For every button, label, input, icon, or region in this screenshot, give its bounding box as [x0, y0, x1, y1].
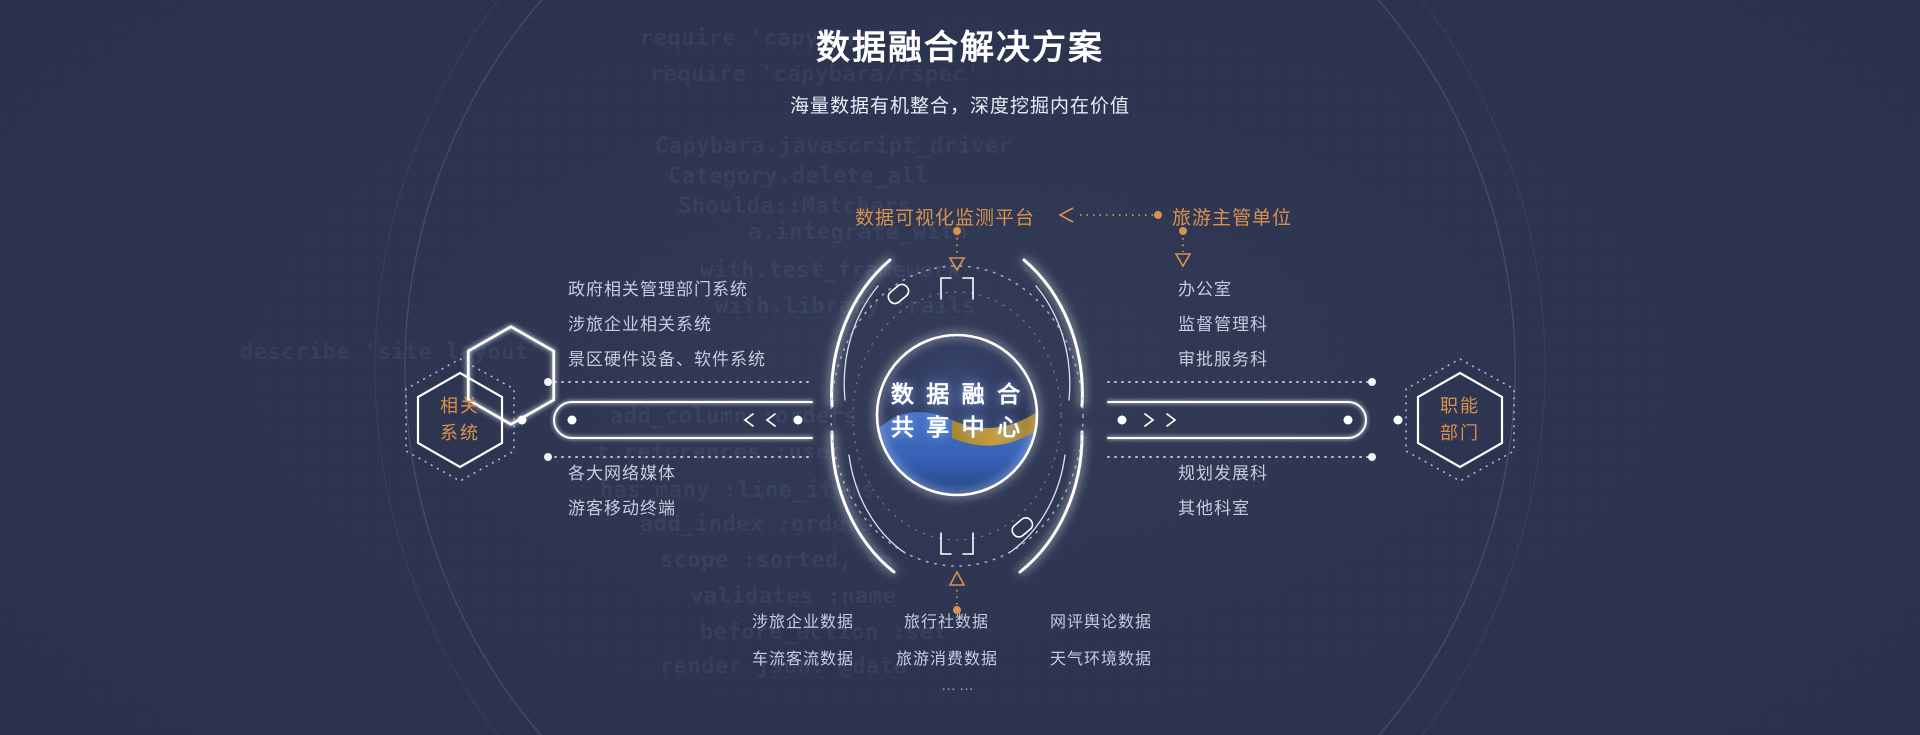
ring-capsule-marker-top	[886, 282, 911, 306]
right-node-line1: 职能	[1440, 393, 1480, 420]
left-system-item-0[interactable]: 政府相关管理部门系统	[568, 275, 748, 300]
right-dept-item-0[interactable]: 办公室	[1178, 275, 1232, 300]
top-label-visualization-platform[interactable]: 数据可视化监测平台	[855, 203, 1035, 230]
right-dept-item-2[interactable]: 审批服务科	[1178, 345, 1268, 370]
top-label-tourism-authority[interactable]: 旅游主管单位	[1172, 203, 1292, 230]
left-node-line2: 系统	[440, 420, 480, 447]
bottom-data-item-r2-1[interactable]: 旅游消费数据	[896, 645, 998, 669]
left-connector-pipes	[518, 378, 813, 461]
left-node-line1: 相关	[440, 393, 480, 420]
bottom-data-item-r2-0[interactable]: 车流客流数据	[752, 645, 854, 669]
bottom-data-item-r2-2[interactable]: 天气环境数据	[1050, 645, 1152, 669]
left-system-item-2[interactable]: 景区硬件设备、软件系统	[568, 345, 766, 370]
bottom-data-item-r1-1[interactable]: 旅行社数据	[904, 608, 989, 632]
core-sphere	[877, 335, 1037, 500]
right-dept-lower-item-0[interactable]: 规划发展科	[1178, 459, 1268, 484]
right-connector-pipes	[1108, 378, 1403, 461]
left-node-label-wrap: 相关 系统	[400, 355, 520, 485]
left-system-item-1[interactable]: 涉旅企业相关系统	[568, 310, 712, 335]
right-node-line2: 部门	[1440, 420, 1480, 447]
right-dept-item-1[interactable]: 监督管理科	[1178, 310, 1268, 335]
bottom-ellipsis: ……	[941, 677, 977, 694]
left-source-item-1[interactable]: 游客移动终端	[568, 494, 676, 519]
right-node-label-wrap: 职能 部门	[1400, 355, 1520, 485]
right-dept-lower-item-1[interactable]: 其他科室	[1178, 494, 1250, 519]
left-source-item-0[interactable]: 各大网络媒体	[568, 459, 676, 484]
bottom-data-item-r1-0[interactable]: 涉旅企业数据	[752, 608, 854, 632]
bottom-data-item-r1-2[interactable]: 网评舆论数据	[1050, 608, 1152, 632]
ring-capsule-marker-bottom	[1010, 515, 1035, 539]
solution-diagram-page: require 'capybara'require 'capybara/rspe…	[0, 0, 1920, 735]
